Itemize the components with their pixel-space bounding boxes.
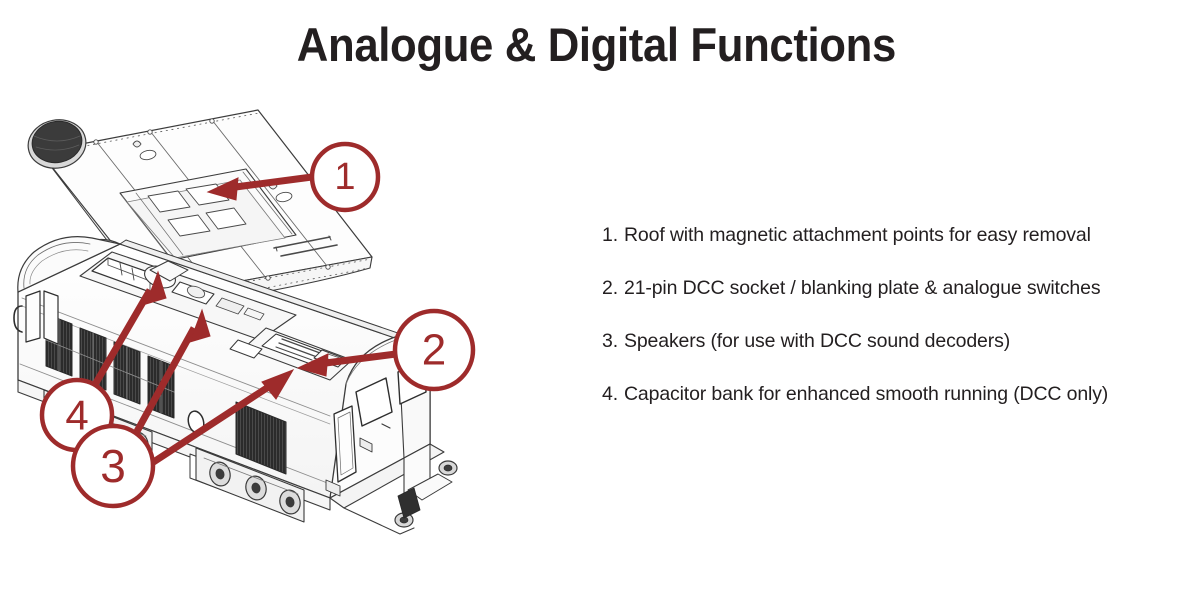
feature-list-item: 1. Roof with magnetic attachment points …	[602, 222, 1188, 275]
feature-number: 2.	[602, 275, 624, 301]
page-title: Analogue & Digital Functions	[42, 16, 1151, 74]
feature-text: Roof with magnetic attachment points for…	[624, 222, 1188, 248]
feature-list-item: 2. 21-pin DCC socket / blanking plate & …	[602, 275, 1188, 328]
feature-list-item: 4. Capacitor bank for enhanced smooth ru…	[602, 381, 1188, 434]
feature-number: 3.	[602, 328, 624, 354]
feature-number: 4.	[602, 381, 624, 407]
feature-number: 1.	[602, 222, 624, 248]
callout-marker-3-label: 3	[100, 440, 126, 492]
feature-text: Speakers (for use with DCC sound decoder…	[624, 328, 1188, 354]
feature-list: 1. Roof with magnetic attachment points …	[602, 222, 1188, 434]
callout-marker-4-label: 4	[65, 392, 88, 439]
locomotive-figure: 1 2 4 3	[0, 92, 520, 562]
callout-marker-3[interactable]: 3	[73, 426, 153, 506]
feature-text: Capacitor bank for enhanced smooth runni…	[624, 381, 1188, 407]
callout-marker-1-label: 1	[334, 156, 355, 198]
feature-list-item: 3. Speakers (for use with DCC sound deco…	[602, 328, 1188, 381]
slide-canvas: Analogue & Digital Functions	[0, 0, 1192, 594]
callout-marker-2-label: 2	[422, 326, 446, 375]
feature-text: 21-pin DCC socket / blanking plate & ana…	[624, 275, 1188, 301]
callout-marker-2[interactable]: 2	[395, 311, 473, 389]
callout-marker-1[interactable]: 1	[312, 144, 378, 210]
